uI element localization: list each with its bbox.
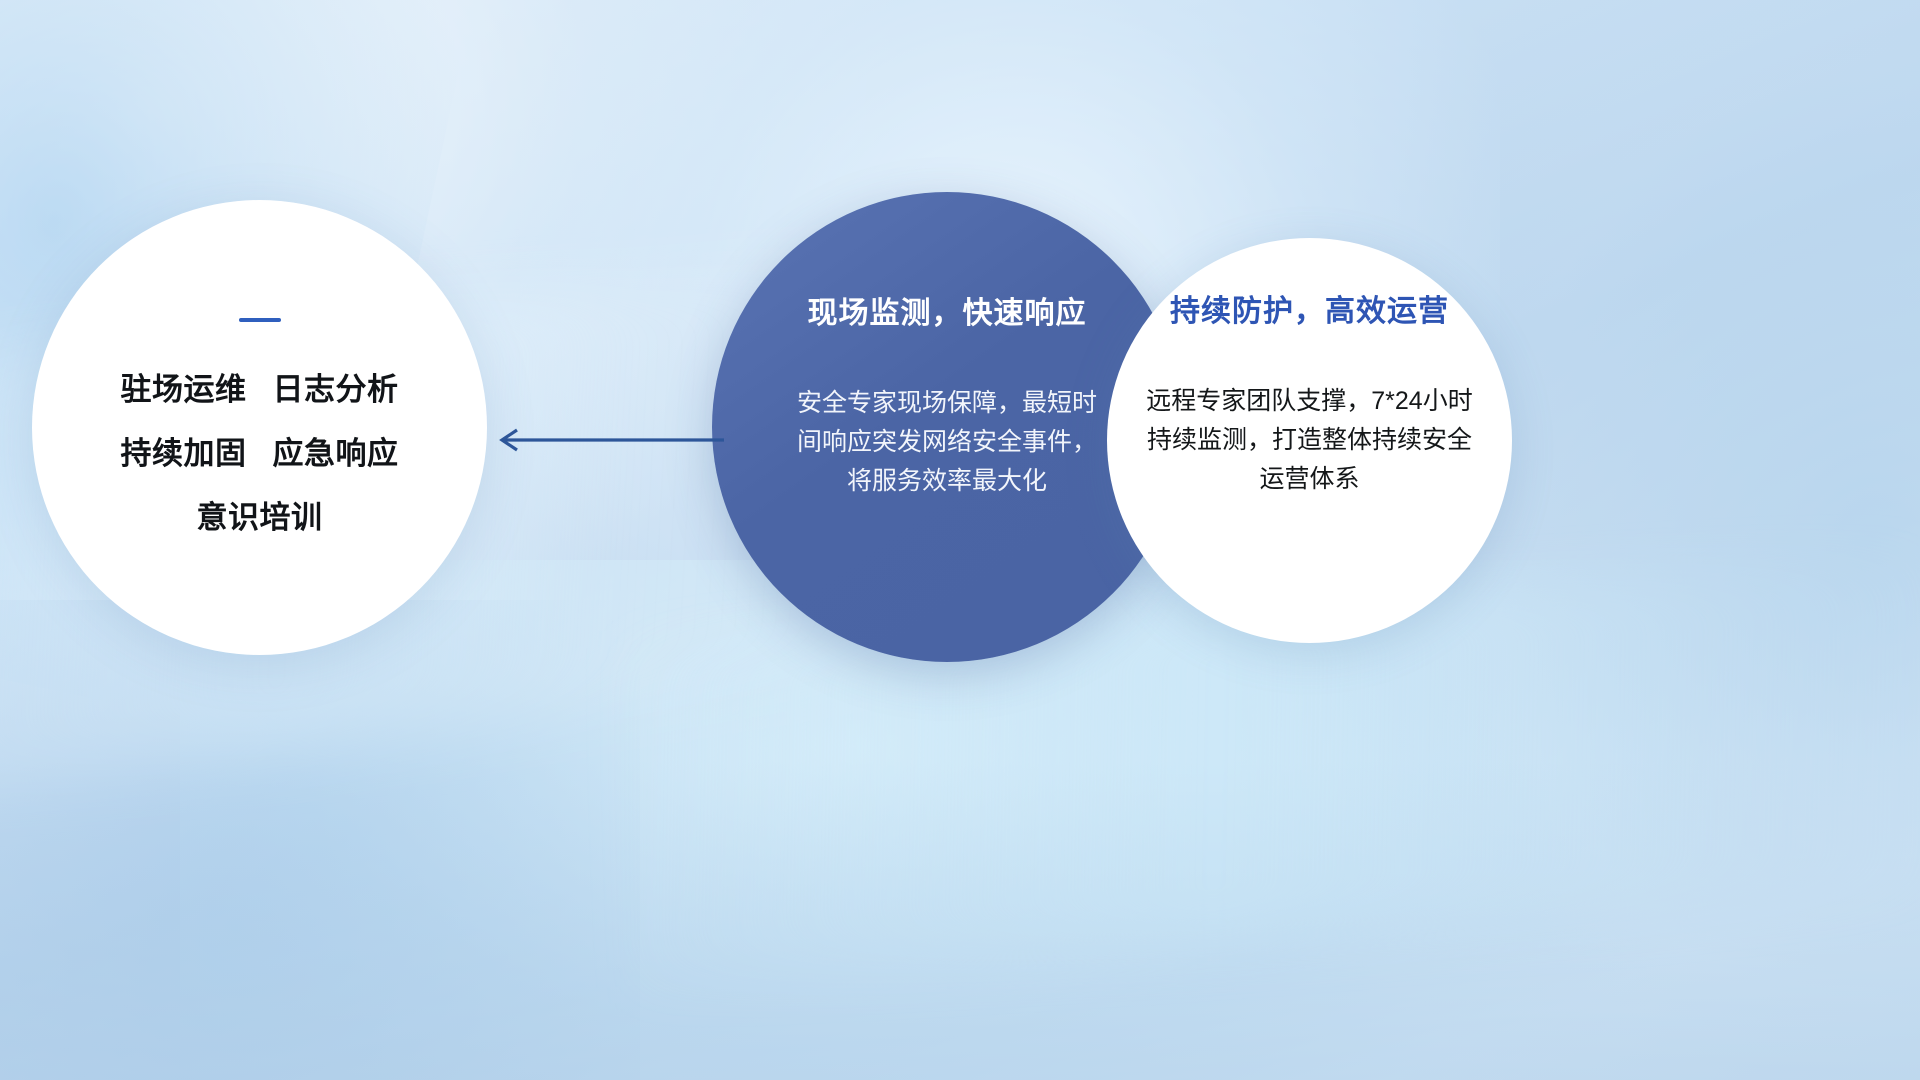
capability-row: 持续加固 应急响应 xyxy=(121,428,399,473)
onsite-monitoring-body: 安全专家现场保障，最短时间响应突发网络安全事件，将服务效率最大化 xyxy=(797,384,1097,500)
capability-row: 驻场运维 日志分析 xyxy=(121,364,399,409)
capability-keyword-list: 驻场运维 日志分析 持续加固 应急响应 意识培训 xyxy=(121,364,399,537)
onsite-monitoring-title: 现场监测，快速响应 xyxy=(808,288,1087,332)
continuous-protection-body: 远程专家团队支撑，7*24小时持续监测，打造整体持续安全运营体系 xyxy=(1145,382,1475,499)
capability-keyword: 驻场运维 xyxy=(121,364,247,409)
flow-arrow-left-icon xyxy=(488,420,728,460)
slide-canvas: 驻场运维 日志分析 持续加固 应急响应 意识培训 现场监测，快速响应 安全专家现… xyxy=(0,0,1920,1080)
capability-keyword: 持续加固 xyxy=(121,428,247,473)
continuous-protection-circle[interactable]: 持续防护，高效运营 远程专家团队支撑，7*24小时持续监测，打造整体持续安全运营… xyxy=(1107,238,1512,643)
capability-keyword: 日志分析 xyxy=(273,364,399,409)
capability-circle-left[interactable]: 驻场运维 日志分析 持续加固 应急响应 意识培训 xyxy=(32,200,487,655)
capability-row: 意识培训 xyxy=(197,492,323,537)
capability-keyword: 意识培训 xyxy=(197,492,323,537)
background-bottom-shade xyxy=(0,760,1920,1080)
divider-dash xyxy=(239,318,281,322)
capability-keyword: 应急响应 xyxy=(273,428,399,473)
continuous-protection-title: 持续防护，高效运营 xyxy=(1170,286,1449,330)
